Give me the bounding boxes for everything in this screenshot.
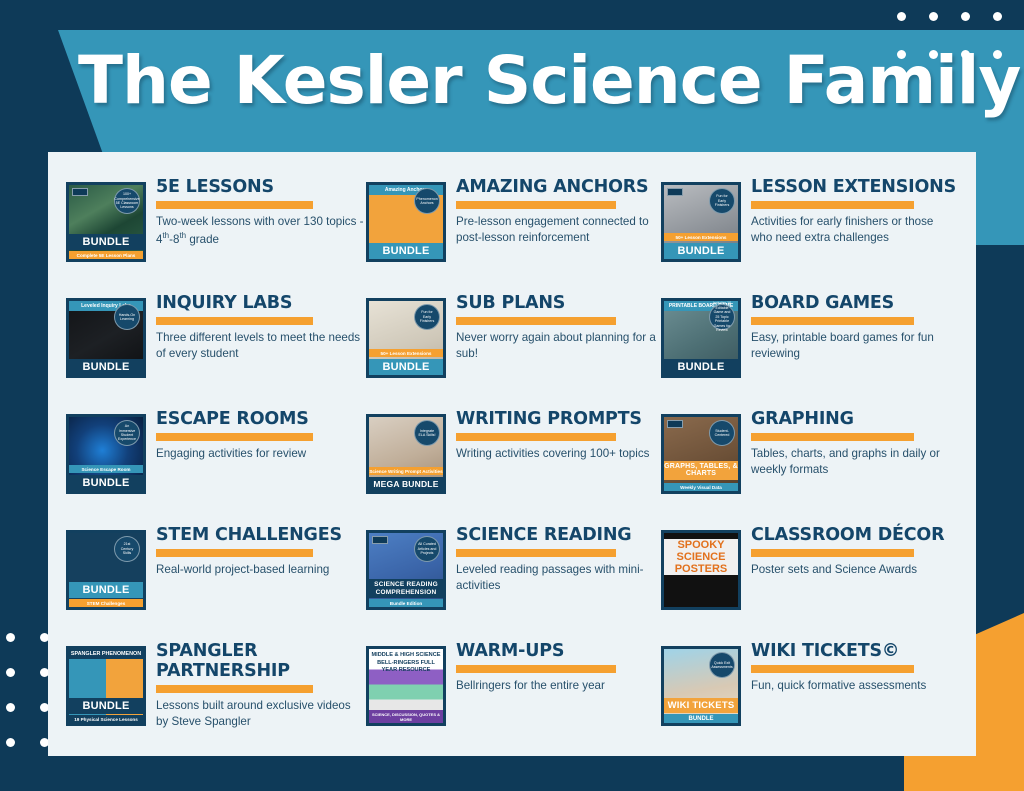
thumb-badge: Fun for Early Finishers: [414, 304, 440, 330]
product-thumbnail-stem-challenges: 21st Century Skills BUNDLE STEM Challeng…: [66, 530, 146, 610]
thumb-badge: An Immersive Student Experience: [114, 420, 140, 446]
thumb-badge: Includes 10 Editable Game and 25 Topic P…: [709, 304, 735, 330]
product-text: LESSON EXTENSIONS Activities for early f…: [751, 176, 956, 246]
thumb-top-label: MIDDLE & HIGH SCIENCE BELL-RINGERS FULL …: [369, 649, 443, 678]
content-panel: 100+ Comprehensive 5E Classroom Lessons …: [48, 152, 976, 756]
product-card-lesson-extensions[interactable]: Fun for Early Finishers BUNDLE 50+ Lesso…: [661, 176, 956, 292]
thumb-sub-label: Science Writing Prompt Activities: [369, 467, 443, 475]
product-name: SCIENCE READING: [456, 526, 661, 546]
thumb-badge: Quick Exit Assessments: [709, 652, 735, 678]
product-card-amazing-anchors[interactable]: Amazing Anchors Phenomenon Anchors BUNDL…: [366, 176, 661, 292]
product-text: SCIENCE READING Leveled reading passages…: [456, 524, 661, 594]
thumb-sub-label: 19 Physical Science Lessons: [69, 715, 143, 723]
brand-logo-icon: [667, 188, 683, 196]
product-text: CLASSROOM DÉCOR Poster sets and Science …: [751, 524, 956, 578]
accent-rule: [156, 201, 313, 209]
product-card-warm-ups[interactable]: MIDDLE & HIGH SCIENCE BELL-RINGERS FULL …: [366, 640, 661, 756]
brand-logo-icon: [372, 536, 388, 544]
product-thumbnail-amazing-anchors: Amazing Anchors Phenomenon Anchors BUNDL…: [366, 182, 446, 262]
product-text: WARM-UPS Bellringers for the entire year: [456, 640, 661, 694]
product-text: STEM CHALLENGES Real-world project-based…: [156, 524, 366, 578]
accent-rule: [751, 201, 914, 209]
product-thumbnail-escape-rooms: An Immersive Student Experience BUNDLE S…: [66, 414, 146, 494]
product-name: WARM-UPS: [456, 642, 661, 662]
product-name: SUB PLANS: [456, 294, 661, 314]
product-description: Poster sets and Science Awards: [751, 562, 956, 578]
product-card-sub-plans[interactable]: Fun for Early Finishers BUNDLE 50+ Lesso…: [366, 292, 661, 408]
product-card-graphing[interactable]: Student-Centered GRAPHS, TABLES, & CHART…: [661, 408, 956, 524]
thumb-bundle-label: SCIENCE READING COMPREHENSION: [369, 579, 443, 598]
thumb-badge: Phenomenon Anchors: [414, 188, 440, 214]
product-description: Leveled reading passages with mini-activ…: [456, 562, 661, 594]
product-name: CLASSROOM DÉCOR: [751, 526, 956, 546]
thumb-badge: Hands-On Learning: [114, 304, 140, 330]
thumb-badge: Integrate ELA Skills!: [414, 420, 440, 446]
brand-logo-icon: [72, 188, 88, 196]
product-text: INQUIRY LABS Three different levels to m…: [156, 292, 366, 362]
thumb-badge: 21st Century Skills: [114, 536, 140, 562]
product-name: STEM CHALLENGES: [156, 526, 366, 546]
product-card-escape-rooms[interactable]: An Immersive Student Experience BUNDLE S…: [66, 408, 366, 524]
thumb-sub-label: BUNDLE: [664, 714, 738, 723]
brand-logo-icon: [667, 420, 683, 428]
thumb-top-label: SPANGLER PHENOMENON: [69, 649, 143, 659]
product-text: WRITING PROMPTS Writing activities cover…: [456, 408, 661, 462]
thumb-bundle-label: BUNDLE: [69, 582, 143, 598]
product-card-wiki-tickets[interactable]: Quick Exit Assessments WIKI TICKETS BUND…: [661, 640, 956, 756]
product-thumbnail-lesson-extensions: Fun for Early Finishers BUNDLE 50+ Lesso…: [661, 182, 741, 262]
thumb-bundle-label: BUNDLE: [69, 234, 143, 250]
product-text: 5E LESSONS Two-week lessons with over 13…: [156, 176, 366, 248]
thumb-bundle-label: MEGA BUNDLE: [369, 477, 443, 491]
thumb-bundle-label: WIKI TICKETS: [664, 698, 738, 713]
product-thumbnail-board-games: PRINTABLE BOARD GAME Includes 10 Editabl…: [661, 298, 741, 378]
page-title: The Kesler Science Family: [78, 48, 1020, 114]
product-card-writing-prompts[interactable]: Integrate ELA Skills! MEGA BUNDLE Scienc…: [366, 408, 661, 524]
accent-rule: [751, 549, 914, 557]
product-description: Bellringers for the entire year: [456, 678, 661, 694]
product-card-inquiry-labs[interactable]: Leveled Inquiry Labs Hands-On Learning B…: [66, 292, 366, 408]
product-description: Two-week lessons with over 130 topics - …: [156, 214, 366, 248]
accent-rule: [751, 317, 914, 325]
product-text: BOARD GAMES Easy, printable board games …: [751, 292, 956, 362]
product-text: GRAPHING Tables, charts, and graphs in d…: [751, 408, 956, 478]
thumb-bundle-label: GRAPHS, TABLES, & CHARTS: [664, 461, 738, 480]
product-description: Activities for early finishers or those …: [751, 214, 956, 246]
product-name: AMAZING ANCHORS: [456, 178, 661, 198]
thumb-badge: Fun for Early Finishers: [709, 188, 735, 214]
thumb-sub-label: Science Escape Room: [69, 465, 143, 473]
thumb-sub-label: STEM Challenges: [69, 599, 143, 607]
accent-rule: [156, 549, 313, 557]
thumb-bundle-label: BUNDLE: [369, 359, 443, 375]
product-name: 5E LESSONS: [156, 178, 366, 198]
product-name: WIKI TICKETS©: [751, 642, 956, 662]
thumb-sub-label: 50+ Lesson Extensions: [369, 349, 443, 357]
accent-rule: [156, 317, 313, 325]
product-name: BOARD GAMES: [751, 294, 956, 314]
product-card-stem-challenges[interactable]: 21st Century Skills BUNDLE STEM Challeng…: [66, 524, 366, 640]
product-text: WIKI TICKETS© Fun, quick formative asses…: [751, 640, 956, 694]
accent-rule: [456, 433, 616, 441]
thumb-sub-label: Bundle Edition: [369, 599, 443, 607]
accent-rule: [456, 201, 616, 209]
thumb-bundle-label: BUNDLE: [69, 359, 143, 375]
product-card-5e-lessons[interactable]: 100+ Comprehensive 5E Classroom Lessons …: [66, 176, 366, 292]
accent-rule: [156, 685, 313, 693]
product-name: INQUIRY LABS: [156, 294, 366, 314]
product-text: SUB PLANS Never worry again about planni…: [456, 292, 661, 362]
product-text: ESCAPE ROOMS Engaging activities for rev…: [156, 408, 366, 462]
product-thumbnail-writing-prompts: Integrate ELA Skills! MEGA BUNDLE Scienc…: [366, 414, 446, 494]
accent-rule: [456, 665, 616, 673]
thumb-badge: 100+ Comprehensive 5E Classroom Lessons: [114, 188, 140, 214]
product-description: Three different levels to meet the needs…: [156, 330, 366, 362]
product-name: LESSON EXTENSIONS: [751, 178, 956, 198]
product-card-board-games[interactable]: PRINTABLE BOARD GAME Includes 10 Editabl…: [661, 292, 956, 408]
thumb-sub-label: SCIENCE, DISCUSSION, QUOTES & MORE: [369, 710, 443, 723]
thumb-sub-label: Complete 5E Lesson Plans: [69, 251, 143, 259]
accent-rule: [751, 433, 914, 441]
product-thumbnail-spangler-partnership: SPANGLER PHENOMENON BUNDLE 19 Physical S…: [66, 646, 146, 726]
thumb-sub-label: 50+ Lesson Extensions: [664, 233, 738, 241]
accent-rule: [751, 665, 914, 673]
accent-rule: [456, 549, 616, 557]
thumb-bundle-label: BUNDLE: [69, 475, 143, 491]
thumb-badge: Student-Centered: [709, 420, 735, 446]
thumb-badge: All Curated Articles and Projects: [414, 536, 440, 562]
product-text: SPANGLER PARTNERSHIP Lessons built aroun…: [156, 640, 366, 730]
product-name: WRITING PROMPTS: [456, 410, 661, 430]
product-description: Engaging activities for review: [156, 446, 366, 462]
product-name: SPANGLER PARTNERSHIP: [156, 642, 366, 682]
product-description: Lessons built around exclusive videos by…: [156, 698, 366, 730]
thumb-sub-label: Weekly Visual Data: [664, 483, 738, 491]
product-thumbnail-sub-plans: Fun for Early Finishers BUNDLE 50+ Lesso…: [366, 298, 446, 378]
product-thumbnail-science-reading: All Curated Articles and Projects SCIENC…: [366, 530, 446, 610]
thumb-bundle-label: BUNDLE: [664, 243, 738, 259]
product-description: Tables, charts, and graphs in daily or w…: [751, 446, 956, 478]
product-name: GRAPHING: [751, 410, 956, 430]
product-thumbnail-graphing: Student-Centered GRAPHS, TABLES, & CHART…: [661, 414, 741, 494]
product-description: Pre-lesson engagement connected to post-…: [456, 214, 661, 246]
thumb-bundle-label: BUNDLE: [69, 698, 143, 714]
product-text: AMAZING ANCHORS Pre-lesson engagement co…: [456, 176, 661, 246]
product-grid: 100+ Comprehensive 5E Classroom Lessons …: [66, 176, 958, 756]
accent-rule: [456, 317, 616, 325]
product-thumbnail-wiki-tickets: Quick Exit Assessments WIKI TICKETS BUND…: [661, 646, 741, 726]
product-thumbnail-classroom-decor: SPOOKY SCIENCE POSTERS: [661, 530, 741, 610]
thumb-bundle-label: BUNDLE: [664, 359, 738, 375]
product-description: Easy, printable board games for fun revi…: [751, 330, 956, 362]
product-name: ESCAPE ROOMS: [156, 410, 366, 430]
product-card-classroom-decor[interactable]: SPOOKY SCIENCE POSTERS CLASSROOM DÉCOR P…: [661, 524, 956, 640]
thumb-top-label: SPOOKY SCIENCE POSTERS: [664, 539, 738, 575]
product-card-science-reading[interactable]: All Curated Articles and Projects SCIENC…: [366, 524, 661, 640]
thumb-bundle-label: BUNDLE: [369, 243, 443, 259]
product-description: Never worry again about planning for a s…: [456, 330, 661, 362]
product-thumbnail-5e-lessons: 100+ Comprehensive 5E Classroom Lessons …: [66, 182, 146, 262]
accent-rule: [156, 433, 313, 441]
product-description: Writing activities covering 100+ topics: [456, 446, 661, 462]
product-card-spangler-partnership[interactable]: SPANGLER PHENOMENON BUNDLE 19 Physical S…: [66, 640, 366, 756]
product-thumbnail-warm-ups: MIDDLE & HIGH SCIENCE BELL-RINGERS FULL …: [366, 646, 446, 726]
product-thumbnail-inquiry-labs: Leveled Inquiry Labs Hands-On Learning B…: [66, 298, 146, 378]
product-description: Real-world project-based learning: [156, 562, 366, 578]
product-description: Fun, quick formative assessments: [751, 678, 956, 694]
